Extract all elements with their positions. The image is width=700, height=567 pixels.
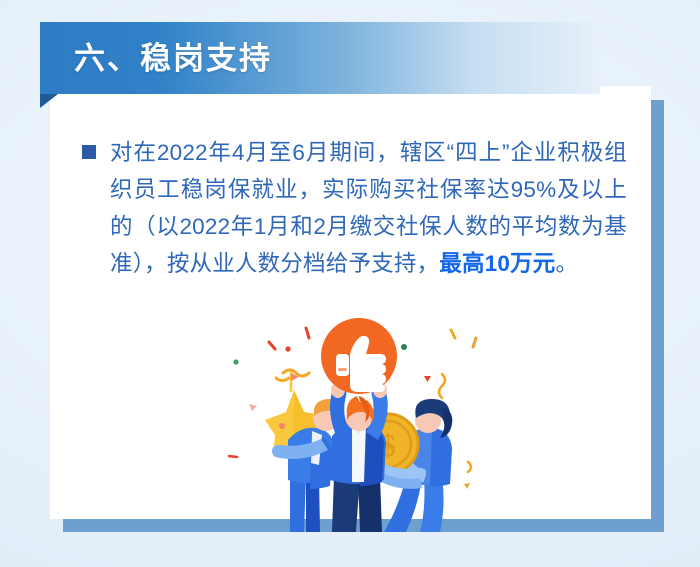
section-header-ribbon: 六、稳岗支持 xyxy=(40,22,600,94)
paragraph-part-3: 。 xyxy=(556,251,579,276)
policy-paragraph: 对在2022年4月至6月期间，辖区“四上”企业积极组织员工稳岗保就业，实际购买社… xyxy=(82,134,627,282)
ribbon-fold-corner xyxy=(40,94,58,108)
page-title: 六、稳岗支持 xyxy=(74,43,272,74)
three-people-celebrating-illustration: $ xyxy=(228,316,484,532)
card-shadow-right xyxy=(651,100,664,532)
policy-text-block: 对在2022年4月至6月期间，辖区“四上”企业积极组织员工稳岗保就业，实际购买社… xyxy=(82,134,627,282)
infographic-page: 六、稳岗支持 对在2022年4月至6月期间，辖区“四上”企业积极组织员工稳岗保就… xyxy=(0,0,700,567)
square-bullet-icon xyxy=(82,145,96,159)
max-subsidy-emphasis: 最高10万元 xyxy=(439,251,555,276)
